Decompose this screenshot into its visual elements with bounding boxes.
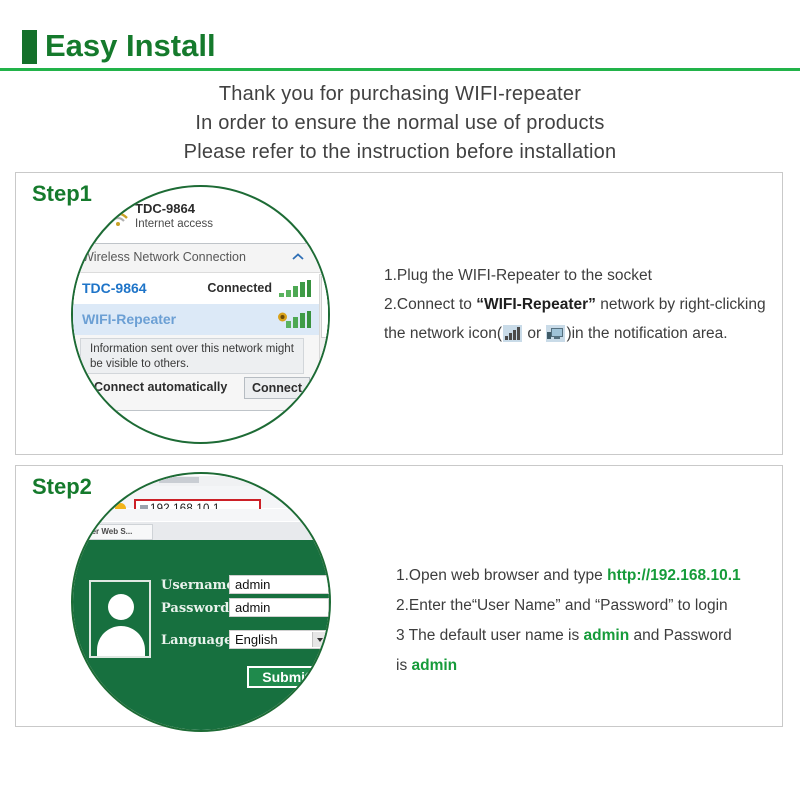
- language-select[interactable]: English: [229, 630, 329, 649]
- step2-panel: Step2 192.168.10.1 eater Web S...: [15, 465, 783, 727]
- step1-instruction-2-post: network by right-clicking: [596, 296, 766, 313]
- step1-instruction-3-post: )in the notification area.: [566, 325, 727, 342]
- network-security-note: Information sent over this network might…: [80, 338, 304, 374]
- connect-automatically-label: Connect automatically: [94, 380, 227, 394]
- step1-instruction-2: 2.Connect to “WIFI-Repeater” network by …: [384, 290, 774, 319]
- intro-line-3: Please refer to the instruction before i…: [0, 138, 800, 167]
- step2-instruction-3-mid: and Password: [629, 627, 732, 644]
- wifi-list-scrollbar[interactable]: [319, 274, 330, 375]
- step1-instructions: 1.Plug the WIFI-Repeater to the socket 2…: [384, 261, 774, 348]
- avatar-head: [108, 594, 134, 620]
- network-security-note-text: Information sent over this network might…: [90, 342, 300, 372]
- language-value: English: [235, 632, 278, 647]
- intro-line-1: Thank you for purchasing WIFI-repeater: [0, 80, 800, 109]
- wifi-panel-header-label: Wireless Network Connection: [82, 250, 246, 264]
- browser-tab-strip: eater Web S...: [73, 522, 329, 540]
- browser-chrome: 192.168.10.1 eater Web S...: [73, 474, 329, 544]
- browser-bookmarks-bar: [81, 509, 329, 521]
- header-accent-bar: [22, 30, 37, 64]
- step1-illustration-circle: TDC-9864 Internet access Wireless Networ…: [71, 185, 330, 444]
- step1-instruction-2-bold: “WIFI-Repeater”: [476, 296, 596, 313]
- username-input[interactable]: admin: [229, 575, 329, 594]
- step1-instruction-3: the network icon( or )in the notificatio…: [384, 319, 774, 348]
- page-title: Easy Install: [45, 24, 216, 68]
- intro-block: Thank you for purchasing WIFI-repeater I…: [0, 80, 800, 167]
- wifi-tooltip: TDC-9864 Internet access: [93, 201, 303, 241]
- network-name: WIFI-Repeater: [82, 311, 176, 327]
- step1-instruction-3-pre: the network icon(: [384, 325, 502, 342]
- step2-instruction-3: 3 The default user name is admin and Pas…: [396, 621, 786, 651]
- network-list-item[interactable]: TDC-9864 Connected: [71, 273, 320, 304]
- router-login-panel: Username admin Password admin Language E…: [73, 540, 329, 730]
- step2-instructions: 1.Open web browser and type http://192.1…: [396, 561, 786, 681]
- password-value: admin: [235, 600, 270, 615]
- network-name: TDC-9864: [82, 280, 147, 296]
- scrollbar-thumb[interactable]: [321, 276, 330, 338]
- browser-address-row: 192.168.10.1: [87, 486, 329, 508]
- intro-line-2: In order to ensure the normal use of pro…: [0, 109, 800, 138]
- submit-button[interactable]: Submit: [247, 666, 325, 688]
- wifi-tooltip-subtitle: Internet access: [135, 218, 213, 230]
- default-password-value: admin: [412, 657, 458, 674]
- step1-panel: Step1 TDC-9864 Internet access Wireless …: [15, 172, 783, 455]
- page-header: Easy Install: [0, 22, 800, 74]
- step2-illustration-circle: 192.168.10.1 eater Web S... Username adm…: [71, 472, 331, 732]
- wireless-network-flyout: Wireless Network Connection TDC-9864 Con…: [71, 243, 330, 411]
- username-value: admin: [235, 577, 270, 592]
- header-divider: [0, 68, 800, 71]
- wifi-tooltip-ssid: TDC-9864: [135, 201, 195, 216]
- network-list-item[interactable]: WIFI-Repeater: [71, 304, 320, 335]
- username-label: Username: [161, 578, 235, 593]
- step2-instruction-2: 2.Enter the“User Name” and “Password” to…: [396, 591, 786, 621]
- wifi-signal-icon: [107, 207, 129, 227]
- browser-titlebar-text: [159, 477, 199, 483]
- step2-instruction-3-pre: 3 The default user name is: [396, 627, 584, 644]
- step1-instruction-3-mid: or: [523, 325, 545, 342]
- password-input[interactable]: admin: [229, 598, 329, 617]
- browser-titlebar: [101, 476, 329, 486]
- signal-bars-warning-icon: [278, 311, 312, 329]
- step1-instruction-2-pre: 2.Connect to: [384, 296, 476, 313]
- step2-instruction-4-pre: is: [396, 657, 412, 674]
- step1-label: Step1: [32, 181, 92, 207]
- monitor-network-icon: [546, 325, 565, 342]
- browser-tab-label: eater Web S...: [80, 527, 132, 536]
- wifi-panel-header: Wireless Network Connection: [71, 244, 330, 273]
- avatar-body: [97, 626, 145, 658]
- step2-instruction-1-pre: 1.Open web browser and type: [396, 567, 607, 584]
- chevron-up-icon[interactable]: [292, 253, 304, 261]
- connect-button[interactable]: Connect: [244, 377, 310, 399]
- user-avatar-icon: [89, 580, 151, 658]
- default-username-value: admin: [584, 627, 630, 644]
- connect-automatically-checkbox[interactable]: [76, 383, 90, 397]
- network-status: Connected: [207, 281, 272, 295]
- browser-tab[interactable]: eater Web S...: [75, 524, 153, 540]
- signal-bars-icon: [503, 325, 522, 342]
- password-label: Password: [161, 601, 229, 616]
- chevron-down-icon[interactable]: [312, 632, 327, 647]
- step2-instruction-1: 1.Open web browser and type http://192.1…: [396, 561, 786, 591]
- language-label: Language: [161, 633, 232, 648]
- step2-instruction-4: is admin: [396, 651, 786, 681]
- step1-instruction-1: 1.Plug the WIFI-Repeater to the socket: [384, 261, 774, 290]
- router-url-link[interactable]: http://192.168.10.1: [607, 567, 741, 584]
- signal-bars-icon: [278, 280, 312, 298]
